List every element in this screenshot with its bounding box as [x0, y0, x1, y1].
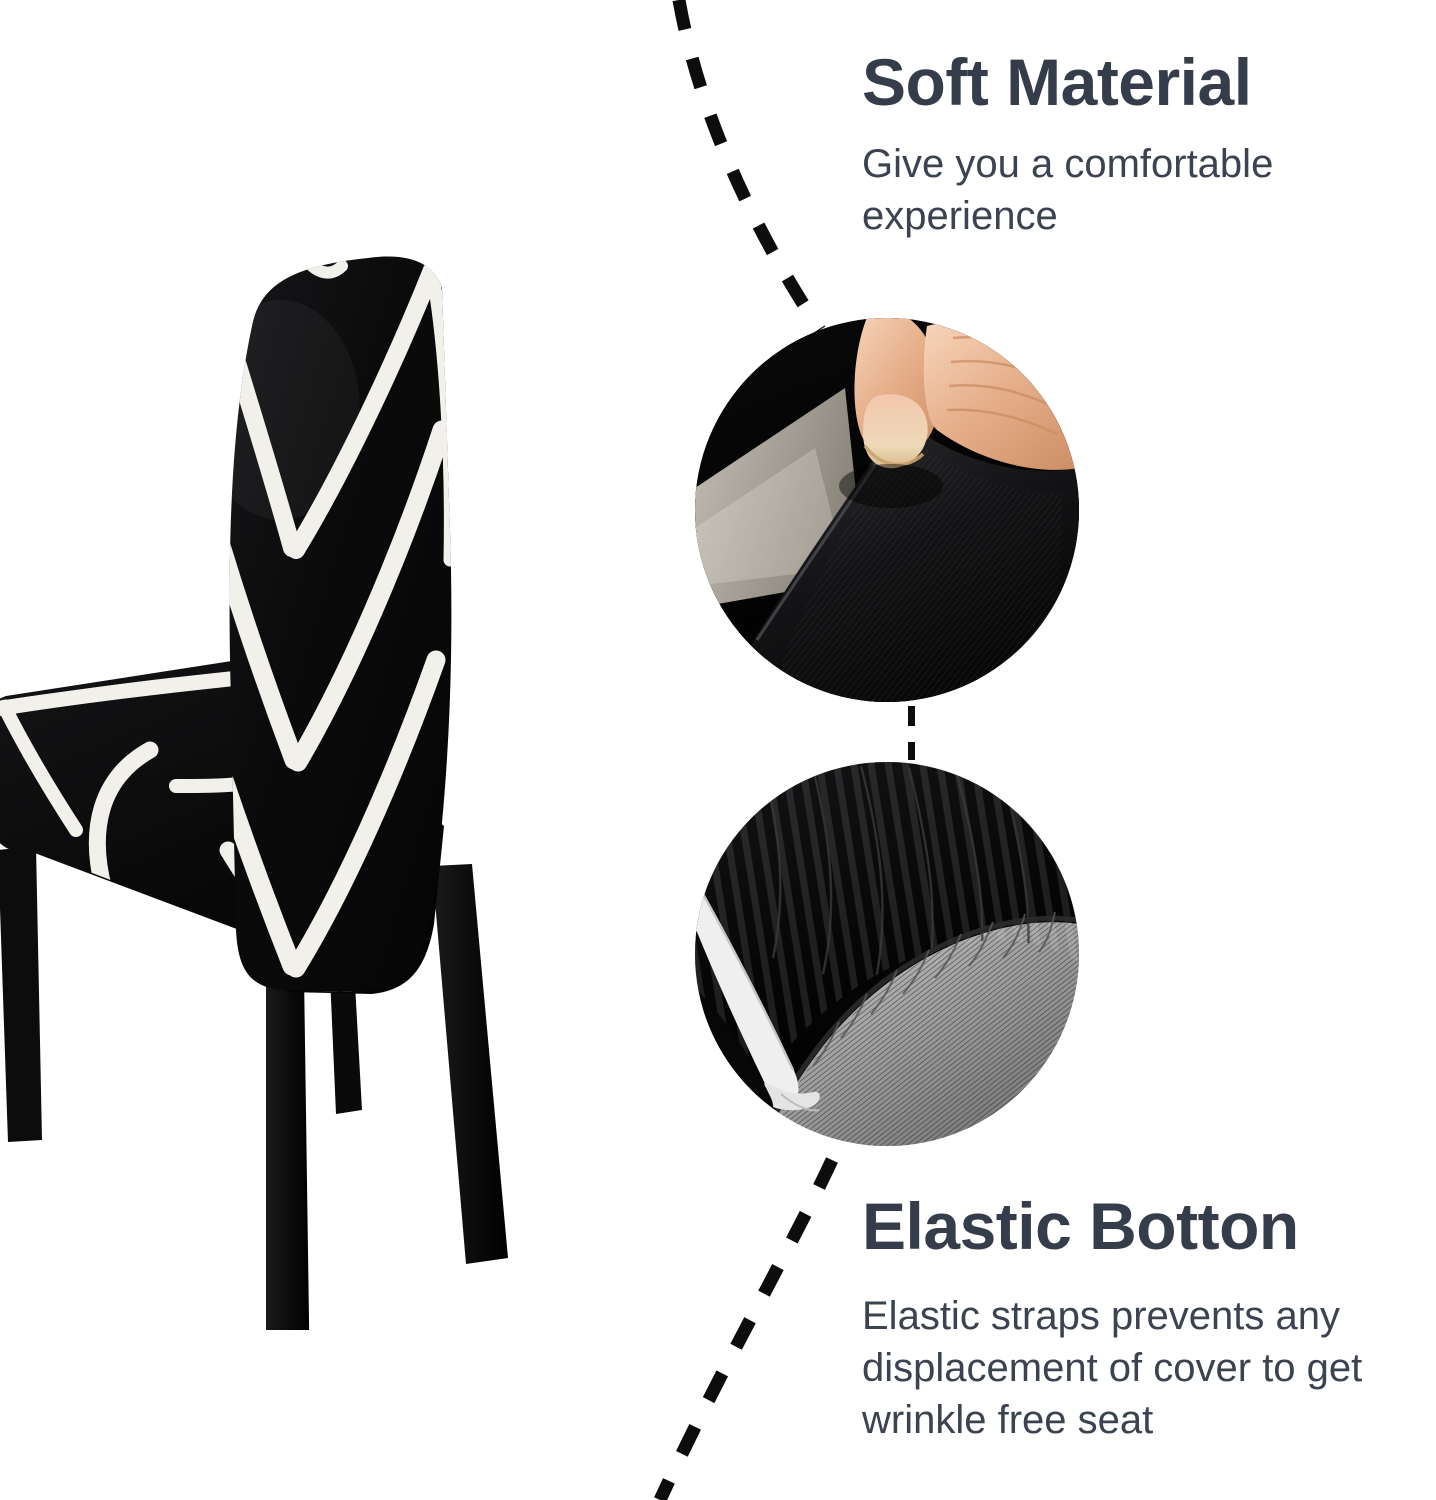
dashed-vertical-connector-icon [908, 706, 915, 760]
elastic-hem-illustration [695, 762, 1079, 1146]
chair-with-slipcover-image [0, 230, 700, 1330]
feature-title-elastic-botton: Elastic Botton [862, 1192, 1428, 1262]
feature-block-soft-material: Soft Material Give you a comfortable exp… [862, 48, 1422, 242]
chair-illustration [0, 230, 700, 1330]
inset-photo-elastic-botton [695, 762, 1079, 1146]
feature-description-soft-material: Give you a comfortable experience [862, 138, 1422, 242]
product-infographic: Soft Material Give you a comfortable exp… [0, 0, 1436, 1500]
thumb-pinching-fabric-illustration [695, 318, 1079, 702]
feature-title-soft-material: Soft Material [862, 48, 1422, 118]
inset-photo-soft-material [695, 318, 1079, 702]
feature-description-elastic-botton: Elastic straps prevents any displacement… [862, 1290, 1428, 1446]
feature-block-elastic-botton: Elastic Botton Elastic straps prevents a… [862, 1192, 1428, 1446]
